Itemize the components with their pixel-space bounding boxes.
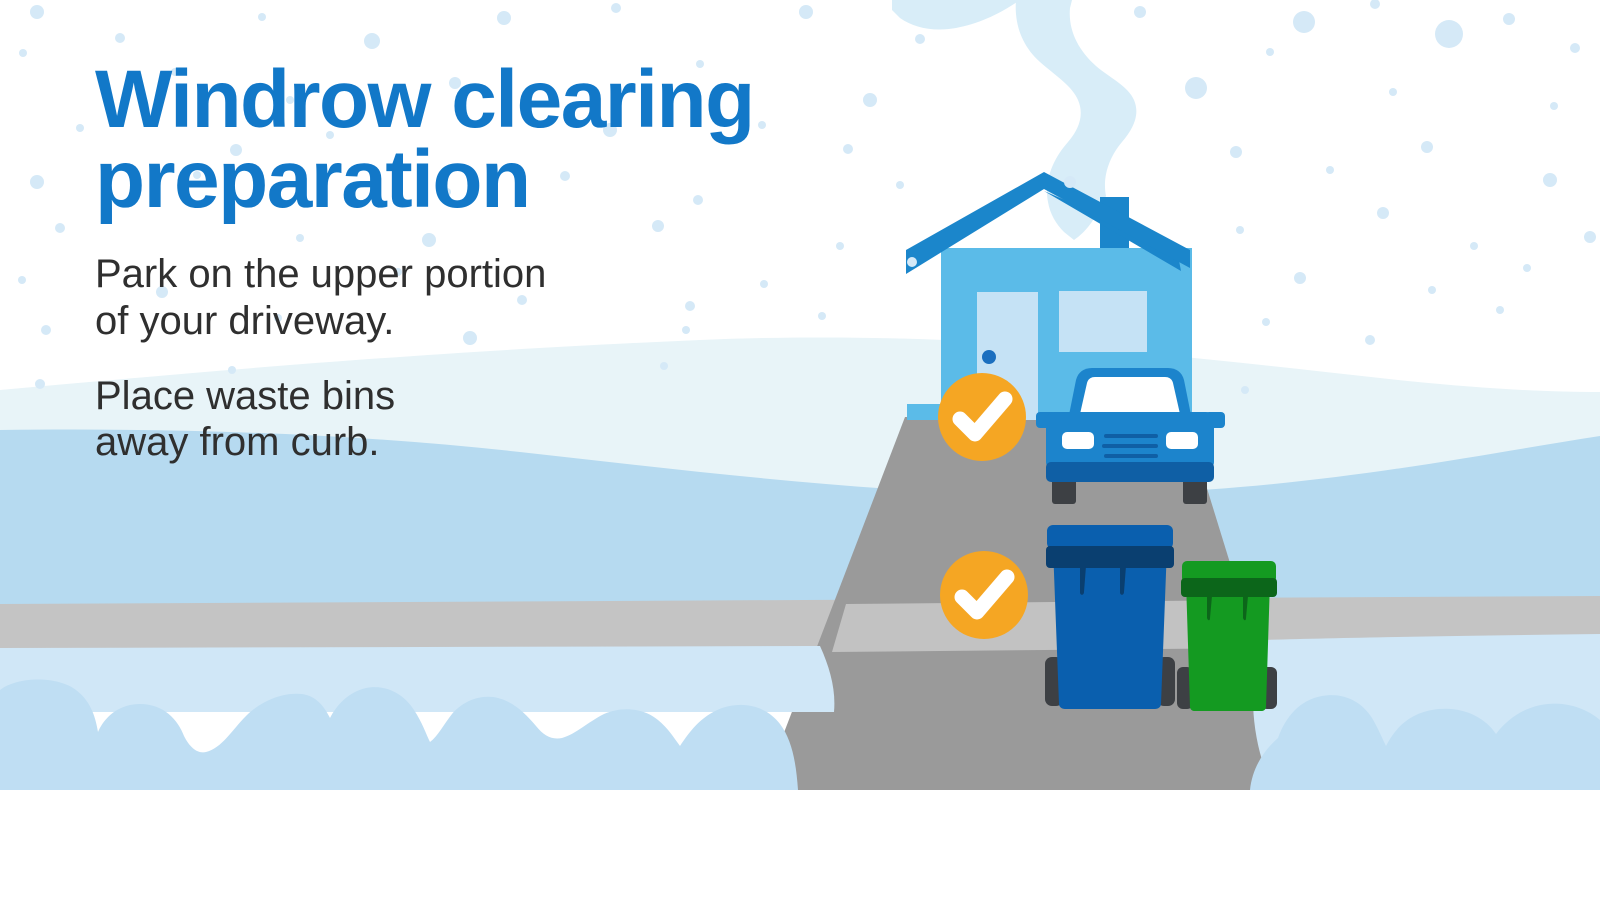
snowflake-dot [1262,318,1270,326]
snowflake-dot [1550,102,1558,110]
snowflake-dot [1543,173,1557,187]
snowflake-dot [1365,335,1375,345]
blue-waste-bin [1045,525,1175,709]
blue-bin-body [1053,547,1167,709]
snowflake-dot [30,175,44,189]
snowflake-dot [863,93,877,107]
snowflake-dot [1064,176,1076,188]
checkmark-badge-bins [940,551,1028,639]
snowflake-dot [907,257,917,267]
green-bin-body [1186,581,1270,711]
car-bumper [1046,462,1214,482]
snowflake-dot [1241,386,1249,394]
snowflake-dot [19,49,27,57]
green-waste-bin [1177,561,1277,711]
car-headlight-left [1062,432,1094,449]
blue-bin-lid-top [1047,525,1173,549]
snowflake-dot [1230,146,1242,158]
snowflake-dot [1293,11,1315,33]
snowflake-dot [1294,272,1306,284]
text-block: Windrow clearing preparation Park on the… [95,60,835,466]
snowflake-dot [1185,77,1207,99]
snowflake-dot [1428,286,1436,294]
snowflake-dot [836,242,844,250]
snowflake-dot [1570,43,1580,53]
snowflake-dot [896,181,904,189]
snowflake-dot [1377,207,1389,219]
snowflake-dot [1266,48,1274,56]
snowflake-dot [1236,226,1244,234]
car-windshield [1080,377,1180,414]
snowflake-dot [41,325,51,335]
snowflake-dot [1134,6,1146,18]
snowflake-dot [915,34,925,44]
snowflake-dot [30,5,44,19]
snowflake-dot [76,124,84,132]
instruction-message-2: Place waste bins away from curb. [95,373,835,467]
snowflake-dot [1584,231,1596,243]
left-snow-bank-light [0,646,834,712]
house-window [1059,291,1147,352]
snowflake-dot [1503,13,1515,25]
poster-root: Windrow clearing preparation Park on the… [0,0,1600,900]
snowflake-dot [799,5,813,19]
snowflake-dot [364,33,380,49]
snowflake-dot [55,223,65,233]
snowflake-dot [497,11,511,25]
snowflake-dot [1389,88,1397,96]
checkmark-badge-car [938,373,1026,461]
door-knob-icon [982,350,996,364]
snowflake-dot [1496,306,1504,314]
snowflake-dot [18,276,26,284]
snowflake-dot [1523,264,1531,272]
snowflake-dot [35,379,45,389]
instruction-message-1: Park on the upper portion of your drivew… [95,251,835,345]
snowflake-dot [843,144,853,154]
blue-bin-lid-band [1046,546,1174,568]
car-grille-line-1 [1104,434,1158,438]
car-headlight-right [1166,432,1198,449]
snowflake-dot [115,33,125,43]
page-title: Windrow clearing preparation [95,60,835,219]
snowflake-dot [1370,0,1380,9]
green-bin-lid-band [1181,578,1277,597]
car-grille-line-3 [1104,454,1158,458]
smoke-plume-upper [892,0,1020,30]
snowflake-dot [1435,20,1463,48]
snowflake-dot [258,13,266,21]
snowflake-dot [1326,166,1334,174]
car-grille-line-2 [1102,444,1158,448]
snowflake-dot [1470,242,1478,250]
snowflake-dot [611,3,621,13]
snowflake-dot [1421,141,1433,153]
